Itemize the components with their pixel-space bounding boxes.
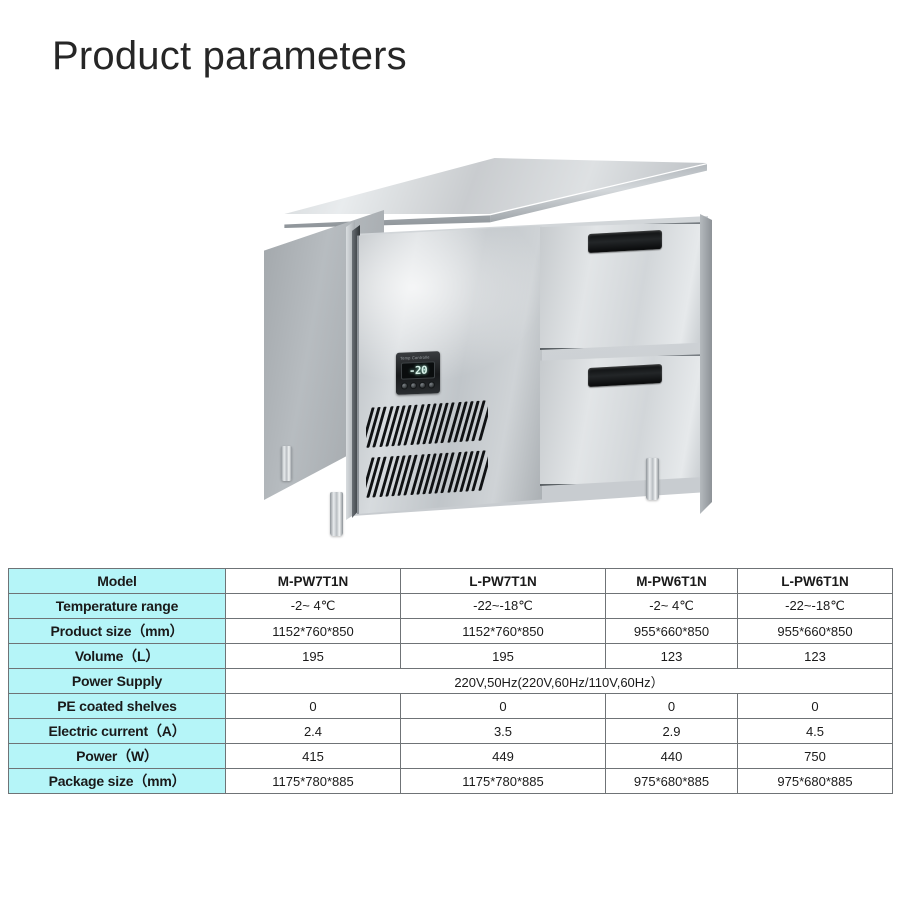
- page-root: Product parameters Temp Controller -20: [0, 0, 900, 900]
- table-row: ModelM-PW7T1NL-PW7T1NM-PW6T1NL-PW6T1N: [9, 569, 893, 594]
- model-header-cell: L-PW7T1N: [401, 569, 606, 594]
- value-cell: 955*660*850: [606, 619, 738, 644]
- spec-table-body: ModelM-PW7T1NL-PW7T1NM-PW6T1NL-PW6T1NTem…: [9, 569, 893, 794]
- value-cell: 3.5: [401, 719, 606, 744]
- cabinet-right-pillar: [700, 214, 712, 514]
- back-left-leg: [281, 446, 292, 481]
- down-button-icon[interactable]: [419, 382, 426, 389]
- row-label-cell: PE coated shelves: [9, 694, 226, 719]
- product-image: Temp Controller -20: [0, 140, 900, 560]
- value-cell: 0: [401, 694, 606, 719]
- value-cell: 4.5: [738, 719, 893, 744]
- table-row: Product size（mm）1152*760*8501152*760*850…: [9, 619, 893, 644]
- value-cell: 415: [226, 744, 401, 769]
- value-cell: -22~-18℃: [401, 594, 606, 619]
- row-label-cell: Power Supply: [9, 669, 226, 694]
- row-label-cell: Temperature range: [9, 594, 226, 619]
- up-button-icon[interactable]: [410, 382, 417, 389]
- table-row: Power Supply220V,50Hz(220V,60Hz/110V,60H…: [9, 669, 893, 694]
- value-cell-merged: 220V,50Hz(220V,60Hz/110V,60Hz）: [226, 669, 893, 694]
- row-label-cell: Package size（mm）: [9, 769, 226, 794]
- control-panel-brand-label: Temp Controller: [400, 355, 430, 361]
- temperature-value: -20: [409, 364, 427, 378]
- front-left-leg: [330, 492, 343, 536]
- value-cell: 449: [401, 744, 606, 769]
- vent-band-lower: [366, 450, 488, 502]
- value-cell: -2~ 4℃: [606, 594, 738, 619]
- value-cell: 0: [226, 694, 401, 719]
- value-cell: 195: [401, 644, 606, 669]
- value-cell: 2.4: [226, 719, 401, 744]
- drawer-column: [540, 216, 708, 516]
- model-header-cell: M-PW7T1N: [226, 569, 401, 594]
- value-cell: 750: [738, 744, 893, 769]
- set-button-icon[interactable]: [401, 382, 408, 389]
- vent-band-upper: [366, 400, 488, 452]
- table-row: Temperature range-2~ 4℃-22~-18℃-2~ 4℃-22…: [9, 594, 893, 619]
- value-cell: 975*680*885: [738, 769, 893, 794]
- table-row: PE coated shelves0000: [9, 694, 893, 719]
- value-cell: 0: [738, 694, 893, 719]
- row-label-cell: Model: [9, 569, 226, 594]
- spec-table: ModelM-PW7T1NL-PW7T1NM-PW6T1NL-PW6T1NTem…: [8, 568, 893, 794]
- value-cell: 975*680*885: [606, 769, 738, 794]
- value-cell: -22~-18℃: [738, 594, 893, 619]
- value-cell: 1152*760*850: [401, 619, 606, 644]
- value-cell: 440: [606, 744, 738, 769]
- light-button-icon[interactable]: [428, 381, 435, 388]
- value-cell: 123: [606, 644, 738, 669]
- value-cell: 1152*760*850: [226, 619, 401, 644]
- spec-table-container: ModelM-PW7T1NL-PW7T1NM-PW6T1NL-PW6T1NTem…: [8, 568, 892, 794]
- table-row: Electric current（A）2.43.52.94.5: [9, 719, 893, 744]
- ventilation-grille: [366, 398, 488, 510]
- table-row: Power（W）415449440750: [9, 744, 893, 769]
- value-cell: 123: [738, 644, 893, 669]
- front-right-leg: [646, 458, 659, 500]
- model-header-cell: M-PW6T1N: [606, 569, 738, 594]
- value-cell: 195: [226, 644, 401, 669]
- model-header-cell: L-PW6T1N: [738, 569, 893, 594]
- value-cell: 955*660*850: [738, 619, 893, 644]
- page-title: Product parameters: [52, 34, 407, 79]
- row-label-cell: Electric current（A）: [9, 719, 226, 744]
- temperature-display: -20: [401, 361, 435, 379]
- row-label-cell: Power（W）: [9, 744, 226, 769]
- table-row: Volume（L）195195123123: [9, 644, 893, 669]
- value-cell: 0: [606, 694, 738, 719]
- row-label-cell: Product size（mm）: [9, 619, 226, 644]
- value-cell: -2~ 4℃: [226, 594, 401, 619]
- value-cell: 1175*780*885: [226, 769, 401, 794]
- row-label-cell: Volume（L）: [9, 644, 226, 669]
- table-row: Package size（mm）1175*780*8851175*780*885…: [9, 769, 893, 794]
- value-cell: 1175*780*885: [401, 769, 606, 794]
- control-buttons-group[interactable]: [401, 380, 435, 390]
- control-panel[interactable]: Temp Controller -20: [396, 351, 440, 395]
- value-cell: 2.9: [606, 719, 738, 744]
